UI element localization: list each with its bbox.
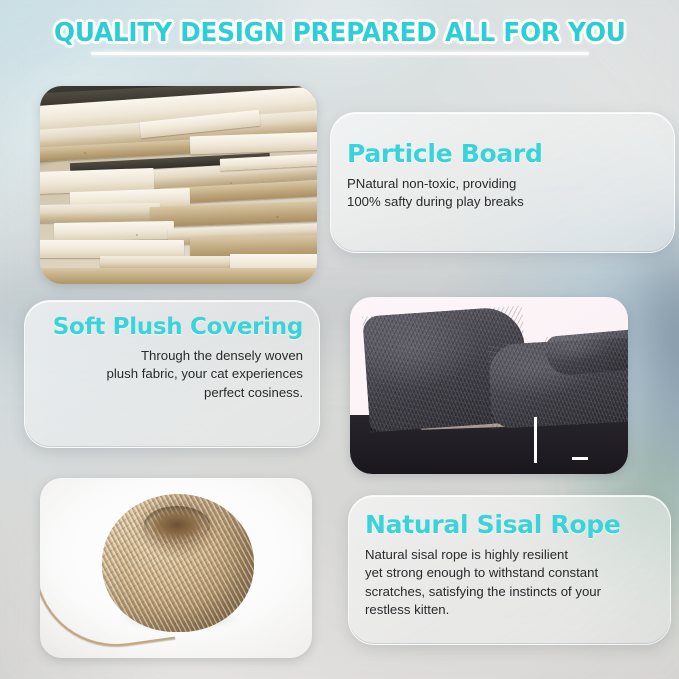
photo-sisal-rope (40, 478, 312, 658)
particle-board-speck (276, 216, 279, 218)
plush-measure-marker (572, 457, 588, 460)
page-title: QUALITY DESIGN PREPARED ALL FOR YOU (54, 18, 626, 48)
feature-heading-particle-board: Particle Board (347, 139, 656, 169)
photo-plush-fabric (350, 297, 628, 474)
feature-card-soft-plush: Soft Plush Covering Through the densely … (24, 300, 320, 448)
particle-board-speck (136, 234, 138, 236)
feature-body-sisal-rope: Natural sisal rope is highly resilient y… (365, 546, 652, 620)
feature-heading-sisal-rope: Natural Sisal Rope (365, 510, 652, 540)
feature-heading-soft-plush: Soft Plush Covering (43, 314, 303, 341)
photo-particle-board (40, 86, 317, 284)
plush-fiber-texture (544, 329, 628, 377)
infographic-canvas: QUALITY DESIGN PREPARED ALL FOR YOU (0, 0, 679, 679)
feature-body-soft-plush: Through the densely woven plush fabric, … (43, 347, 303, 402)
plush-measure-marker (534, 417, 537, 463)
particle-board-plank (40, 203, 160, 223)
feature-body-particle-board: PNatural non-toxic, providing 100% safty… (347, 175, 656, 211)
particle-board-speck (84, 152, 86, 154)
particle-board-plank (40, 268, 317, 284)
feature-card-particle-board: Particle Board PNatural non-toxic, provi… (330, 112, 675, 253)
plush-fabric-edge (544, 329, 628, 377)
sisal-ball-core (144, 506, 210, 544)
title-bar: QUALITY DESIGN PREPARED ALL FOR YOU (0, 18, 679, 55)
particle-board-speck (230, 182, 232, 184)
particle-board-plank (54, 221, 174, 241)
title-underline-rule (91, 52, 589, 55)
feature-card-sisal-rope: Natural Sisal Rope Natural sisal rope is… (348, 495, 671, 645)
